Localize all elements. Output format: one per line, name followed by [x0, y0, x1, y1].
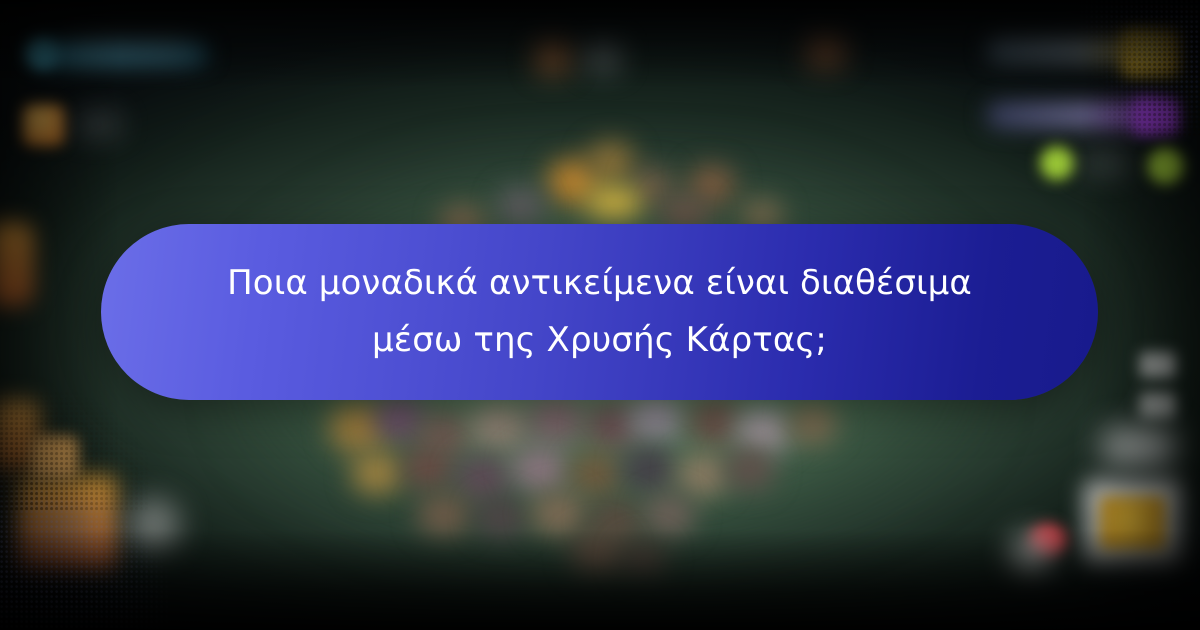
hud-center-chip — [810, 38, 842, 64]
headline-line-1: Ποια μοναδικά αντικείμενα είναι διαθέσιμ… — [170, 255, 1030, 312]
village-blob — [352, 452, 402, 494]
headline-pill: Ποια μοναδικά αντικείμενα είναι διαθέσιμ… — [101, 224, 1098, 400]
village-blob — [622, 446, 676, 492]
village-blob — [588, 142, 634, 182]
village-blob — [620, 540, 666, 578]
village-blob — [532, 492, 586, 536]
hud-gold-pass-icon — [1122, 28, 1180, 76]
headline-line-2: μέσω της Χρυσής Κάρτας; — [170, 312, 1030, 369]
hud-green-dot — [1040, 146, 1074, 180]
hud-reward-chip — [1012, 534, 1052, 574]
village-blob — [790, 404, 836, 444]
hud-green-dot — [1148, 148, 1184, 184]
village-blob — [376, 398, 424, 440]
village-blob — [512, 446, 568, 492]
hud-reward-card-art — [1100, 496, 1166, 550]
village-blob — [586, 186, 642, 220]
village-blob — [570, 452, 622, 496]
village-blob — [528, 398, 584, 444]
headline-text: Ποια μοναδικά αντικείμενα είναι διαθέσιμ… — [170, 255, 1030, 369]
village-blob — [690, 400, 740, 444]
village-blob — [456, 456, 510, 500]
hud-reward-card-top — [1104, 428, 1176, 466]
hud-shop-card-top — [30, 436, 78, 480]
hud-center-chip — [588, 46, 618, 68]
village-blob — [678, 454, 728, 496]
village-blob — [644, 494, 694, 536]
village-blob — [630, 396, 682, 442]
hud-shop-chip — [126, 498, 180, 552]
village-blob — [476, 498, 526, 538]
village-blob — [736, 408, 790, 454]
hud-shop-card-title — [40, 516, 92, 538]
village-blob — [498, 188, 544, 226]
hud-top-right-label — [1084, 156, 1128, 170]
hud-gold-amount — [76, 116, 118, 132]
banner-image: Ποια μοναδικά αντικείμενα είναι διαθέσιμ… — [0, 0, 1200, 630]
village-blob — [418, 494, 470, 536]
hud-gem-icon — [1134, 98, 1180, 134]
hud-right-chip — [1140, 392, 1176, 418]
village-blob — [726, 448, 774, 490]
hud-center-chip — [540, 44, 566, 70]
hud-side-button — [0, 222, 32, 306]
hud-right-chip — [1140, 352, 1176, 378]
village-blob — [470, 404, 528, 450]
village-blob — [404, 448, 452, 488]
hud-xp-badge — [26, 38, 56, 68]
hud-xp-bar-label — [70, 44, 190, 54]
hud-gold-icon — [22, 104, 64, 146]
village-blob — [570, 530, 626, 576]
